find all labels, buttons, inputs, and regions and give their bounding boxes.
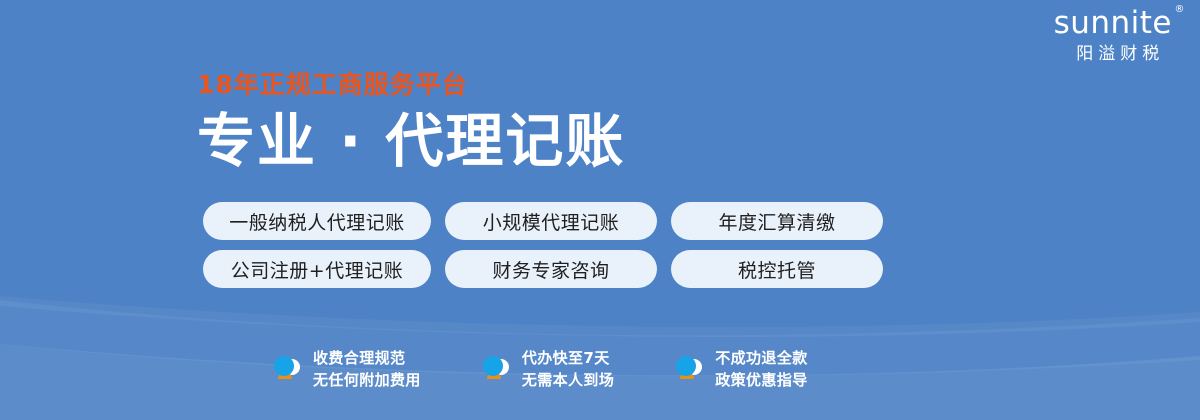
service-pill-expert-consulting[interactable]: 财务专家咨询 <box>445 250 657 288</box>
brand-chinese-name: 阳溢财税 <box>1054 46 1182 63</box>
service-pill-grid: 一般纳税人代理记账 小规模代理记账 年度汇算清缴 公司注册+代理记账 财务专家咨… <box>203 202 883 288</box>
person-badge-icon <box>674 354 704 386</box>
feature-item-speed: 代办快至7天 无需本人到场 <box>481 348 614 392</box>
feature-line2: 无任何附加费用 <box>313 370 421 392</box>
feature-text-pricing: 收费合理规范 无任何附加费用 <box>313 348 421 392</box>
feature-line1: 不成功退全款 <box>715 348 807 370</box>
service-pill-company-registration[interactable]: 公司注册+代理记账 <box>203 250 431 288</box>
service-pill-tax-control-hosting[interactable]: 税控托管 <box>671 250 883 288</box>
feature-line2: 无需本人到场 <box>522 370 614 392</box>
hero-text-block: 18年正规工商服务平台 专业 · 代理记账 <box>197 72 625 172</box>
hero-eyebrow: 18年正规工商服务平台 <box>197 72 625 97</box>
hero-headline: 专业 · 代理记账 <box>197 111 625 172</box>
feature-text-guarantee: 不成功退全款 政策优惠指导 <box>715 348 807 392</box>
person-badge-icon <box>481 354 511 386</box>
person-badge-icon <box>272 354 302 386</box>
promo-banner: sunnite ® 阳溢财税 18年正规工商服务平台 专业 · 代理记账 一般纳… <box>0 0 1200 420</box>
feature-line1: 代办快至7天 <box>522 348 614 370</box>
feature-item-guarantee: 不成功退全款 政策优惠指导 <box>674 348 807 392</box>
registered-trademark-icon: ® <box>1175 5 1186 15</box>
feature-strip: 收费合理规范 无任何附加费用 代办快至7天 无需本人到场 不成功退全款 <box>272 348 808 392</box>
service-pill-small-scale[interactable]: 小规模代理记账 <box>445 202 657 240</box>
service-pill-annual-settlement[interactable]: 年度汇算清缴 <box>671 202 883 240</box>
feature-line1: 收费合理规范 <box>313 348 421 370</box>
feature-text-speed: 代办快至7天 无需本人到场 <box>522 348 614 392</box>
brand-logo[interactable]: sunnite ® 阳溢财税 <box>1054 8 1182 63</box>
service-pill-general-taxpayer[interactable]: 一般纳税人代理记账 <box>203 202 431 240</box>
brand-wordmark-text: sunnite <box>1054 5 1172 41</box>
brand-wordmark: sunnite ® <box>1054 8 1182 39</box>
feature-line2: 政策优惠指导 <box>715 370 807 392</box>
feature-item-pricing: 收费合理规范 无任何附加费用 <box>272 348 421 392</box>
